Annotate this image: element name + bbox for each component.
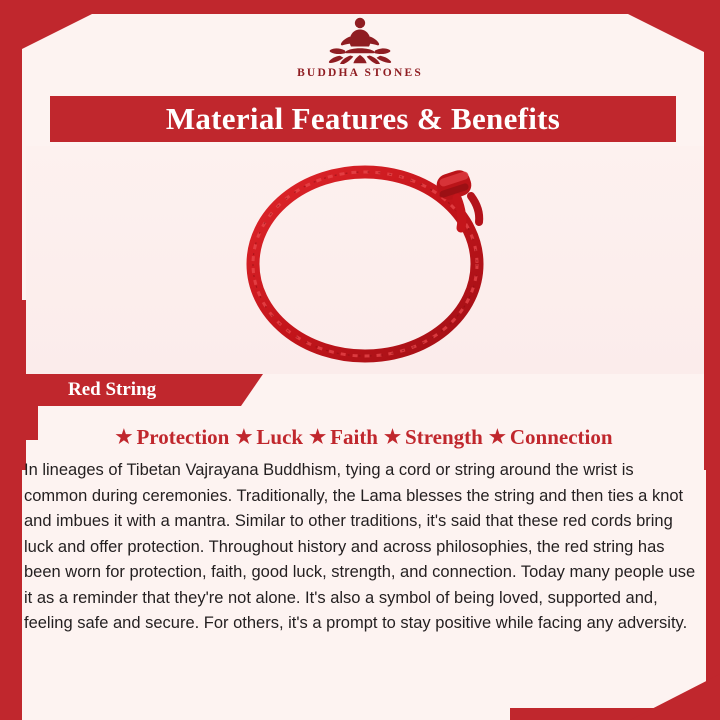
red-braided-string-bracelet <box>225 156 505 374</box>
frame-top-right-bar <box>570 0 720 14</box>
infographic-page: BUDDHA STONES Material Features & Benefi… <box>0 0 720 720</box>
brand-logo: BUDDHA STONES <box>0 14 720 90</box>
star-icon: ★ <box>309 428 326 447</box>
product-photo <box>26 146 704 374</box>
brand-name: BUDDHA STONES <box>297 67 423 79</box>
title-banner: Material Features & Benefits <box>50 96 676 142</box>
star-icon: ★ <box>235 428 252 447</box>
keyword-label: Strength <box>405 425 483 450</box>
keyword-label: Connection <box>510 425 613 450</box>
page-title: Material Features & Benefits <box>166 101 560 137</box>
star-icon: ★ <box>384 428 401 447</box>
keyword-label: Faith <box>330 425 378 450</box>
star-icon: ★ <box>489 428 506 447</box>
keyword-protection: ★ Protection <box>115 425 229 450</box>
star-icon: ★ <box>115 428 132 447</box>
lotus-meditation-icon <box>317 14 403 64</box>
keyword-luck: ★ Luck <box>235 425 303 450</box>
keyword-strength: ★ Strength <box>384 425 483 450</box>
corner-decoration-bottom-right <box>630 674 720 720</box>
product-label-tab: Red String <box>26 374 241 406</box>
product-label: Red String <box>26 379 156 401</box>
keyword-label: Protection <box>136 425 229 450</box>
keyword-connection: ★ Connection <box>489 425 613 450</box>
description-text: In lineages of Tibetan Vajrayana Buddhis… <box>24 458 700 637</box>
keyword-faith: ★ Faith <box>309 425 378 450</box>
benefit-keywords-row: ★ Protection ★ Luck ★ Faith ★ Strength ★… <box>24 418 704 456</box>
keyword-label: Luck <box>256 425 303 450</box>
product-label-tab-notch <box>241 374 263 406</box>
